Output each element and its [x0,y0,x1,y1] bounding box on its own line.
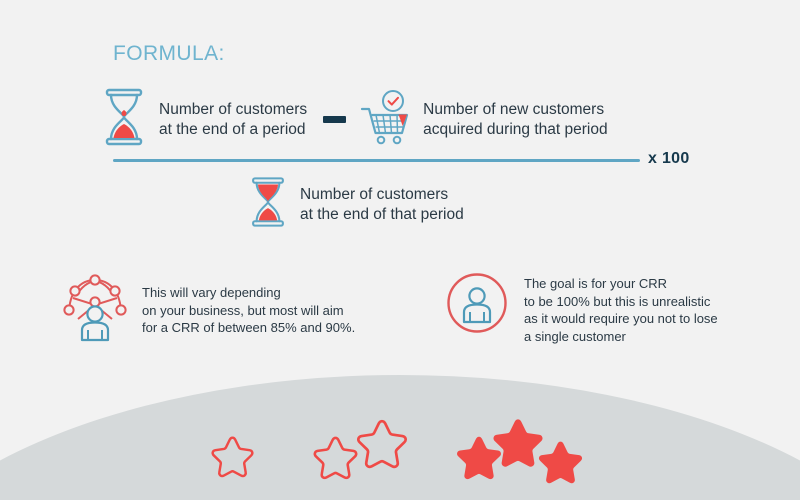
callout-right-text: The goal is for your CRR to be 100% but … [524,272,718,345]
numerator-second-line1: Number of new customers [423,101,604,118]
callout-varies-by-business: This will vary depending on your busines… [62,272,355,347]
numerator-first-line2: at the end of a period [159,121,306,138]
network-people-icon [62,272,128,347]
star-filled [489,414,547,475]
callout-left-line3: for a CRR of between 85% and 90%. [142,320,355,335]
infographic-canvas: FORMULA: Number of customers at the end … [0,0,800,500]
denominator-text: Number of customers at the end of that p… [300,185,464,225]
hourglass-icon [100,88,148,151]
gray-arc-shape [0,375,800,500]
multiplier-label: x 100 [648,150,690,168]
callout-left-line1: This will vary depending [142,285,281,300]
fraction-bar [113,159,640,162]
numerator-first-line1: Number of customers [159,101,307,118]
callout-goal-crr: The goal is for your CRR to be 100% but … [446,272,718,345]
formula-numerator: Number of customers at the end of a peri… [100,88,608,151]
star-outline [209,433,256,484]
numerator-second-term-text: Number of new customers acquired during … [423,100,607,140]
star-filled [535,437,586,491]
hourglass-icon [247,176,289,233]
callout-right-line2: to be 100% but this is unrealistic [524,294,710,309]
callout-right-line3: as it would require you not to lose [524,311,718,326]
formula-denominator: Number of customers at the end of that p… [247,176,464,233]
shopping-cart-icon [360,89,412,150]
star-outline [354,416,410,475]
person-in-circle-icon [446,272,508,339]
star-filled [453,432,505,487]
minus-sign [323,116,346,123]
callout-right-line1: The goal is for your CRR [524,276,667,291]
callout-right-line4: a single customer [524,329,626,344]
numerator-first-term-text: Number of customers at the end of a peri… [159,100,307,140]
callout-left-line2: on your business, but most will aim [142,303,344,318]
denominator-line1: Number of customers [300,186,448,203]
numerator-second-line2: acquired during that period [423,121,607,138]
callout-left-text: This will vary depending on your busines… [142,272,355,337]
denominator-line2: at the end of that period [300,206,464,223]
star-outline [311,433,360,486]
formula-block: Number of customers at the end of a peri… [0,0,800,250]
